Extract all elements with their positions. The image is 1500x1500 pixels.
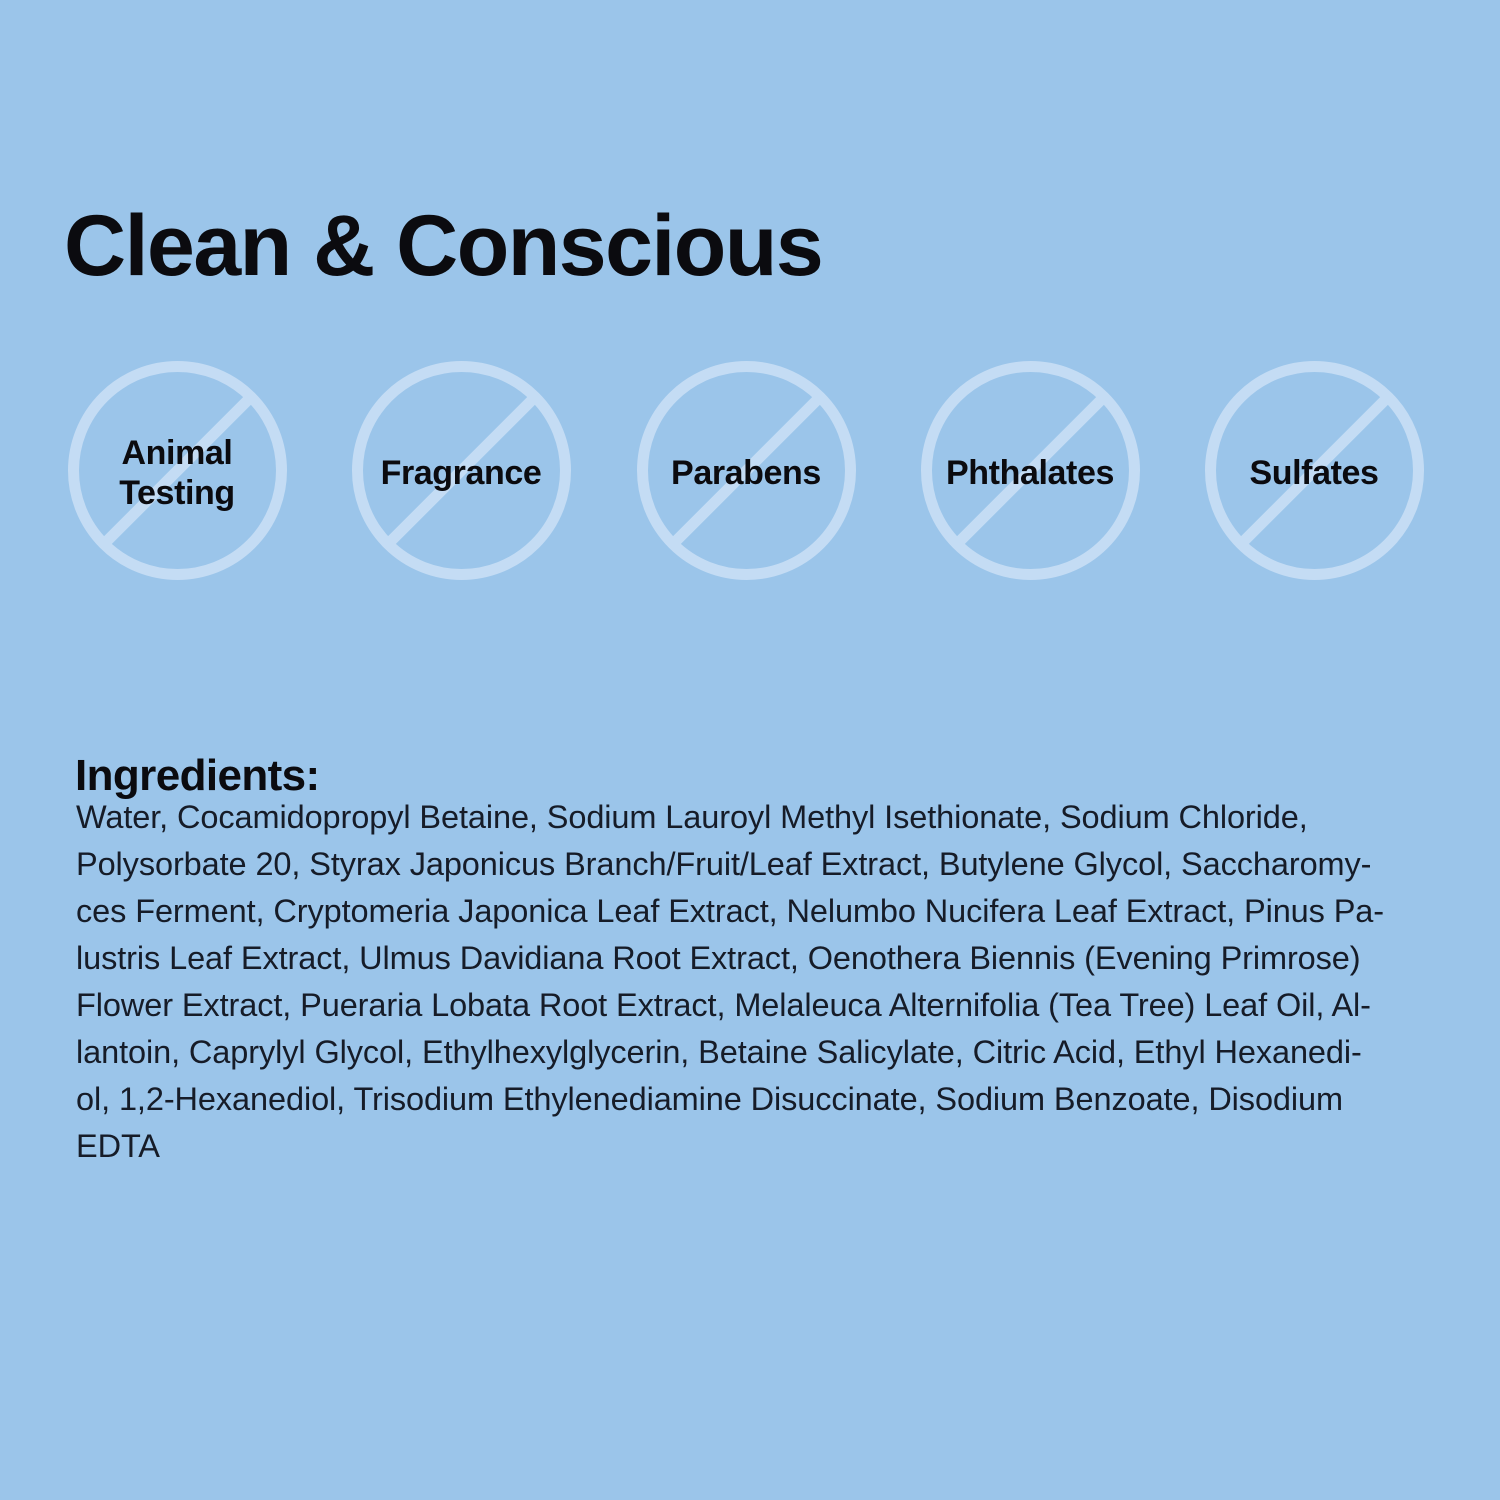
free-from-badge-row: Animal Testing Fragrance Parabens Phthal…: [0, 350, 1500, 596]
marketing-panel: Clean & Conscious Animal Testing Fragran…: [0, 0, 1500, 1500]
badge-phthalates: Phthalates: [907, 350, 1153, 596]
ingredients-list-text: Water, Cocamidopropyl Betaine, Sodium La…: [76, 794, 1426, 1170]
badge-label: Sulfates: [1143, 350, 1485, 596]
badge-animal-testing: Animal Testing: [54, 350, 300, 596]
badge-sulfates: Sulfates: [1191, 350, 1437, 596]
page-title: Clean & Conscious: [64, 201, 822, 291]
badge-fragrance: Fragrance: [338, 350, 584, 596]
badge-parabens: Parabens: [623, 350, 869, 596]
